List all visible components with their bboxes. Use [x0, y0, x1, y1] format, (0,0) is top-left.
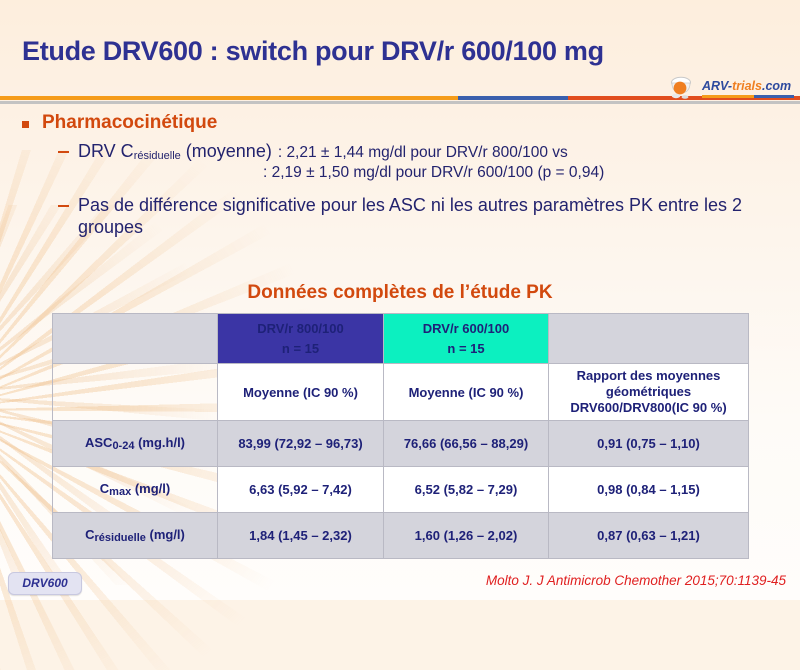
- cell-cres-drv800: 1,84 (1,45 – 2,32): [218, 513, 384, 559]
- drv-c-subscript: résiduelle: [134, 150, 181, 162]
- table-row: Crésiduelle (mg/l) 1,84 (1,45 – 2,32) 1,…: [53, 513, 749, 559]
- cres-label: C: [85, 527, 94, 542]
- bullet-drv-cresiduelle: DRV Crésiduelle (moyenne): 2,21 ± 1,44 m…: [0, 141, 800, 183]
- table-caption: Données complètes de l’étude PK: [0, 282, 800, 304]
- bullet-level1-label: Pharmacocinétique: [42, 112, 217, 133]
- ratio-line1: Rapport des moyennes: [577, 368, 721, 383]
- pill-bottle-icon: [666, 76, 700, 100]
- cell-asc-drv600: 76,66 (66,56 – 88,29): [384, 421, 549, 467]
- pk-data-table: DRV/r 800/100 n = 15 DRV/r 600/100 n = 1…: [52, 313, 749, 559]
- asc-label: ASC: [85, 435, 112, 450]
- bullet-square-icon: [22, 121, 29, 128]
- table-header-row-groups: DRV/r 800/100 n = 15 DRV/r 600/100 n = 1…: [53, 314, 749, 364]
- drv-c-paren: (moyenne): [181, 141, 272, 161]
- header-cell-moyenne-600: Moyenne (IC 90 %): [384, 364, 549, 421]
- cell-cmax-ratio: 0,98 (0,84 – 1,15): [549, 467, 749, 513]
- table-row: Cmax (mg/l) 6,63 (5,92 – 7,42) 6,52 (5,8…: [53, 467, 749, 513]
- header-cell-blank: [53, 364, 218, 421]
- header-cell-ratio: Rapport des moyennes géométriques DRV600…: [549, 364, 749, 421]
- asc-subscript: 0-24: [112, 440, 134, 452]
- drv-c-value-line1: : 2,21 ± 1,44 mg/dl pour DRV/r 800/100 v…: [278, 144, 568, 161]
- table-header-row-measures: Moyenne (IC 90 %) Moyenne (IC 90 %) Rapp…: [53, 364, 749, 421]
- page-title: Etude DRV600 : switch pour DRV/r 600/100…: [22, 36, 604, 67]
- bullet-no-significant-difference: Pas de différence significative pour les…: [0, 195, 800, 239]
- row-label-cresiduelle: Crésiduelle (mg/l): [53, 513, 218, 559]
- drv600-n: n = 15: [447, 341, 484, 356]
- cres-unit: (mg/l): [146, 527, 185, 542]
- header-cell-empty-topleft: [53, 314, 218, 364]
- study-badge: DRV600: [8, 572, 82, 595]
- ratio-line2: géométriques: [606, 384, 691, 399]
- arv-trials-logo[interactable]: ARV-trials.com: [666, 76, 794, 102]
- bullet-level2-text: Pas de différence significative pour les…: [78, 195, 776, 239]
- bullet-level2-line: DRV Crésiduelle (moyenne): 2,21 ± 1,44 m…: [78, 141, 800, 183]
- drv800-label: DRV/r 800/100: [257, 321, 344, 336]
- cell-cres-drv600: 1,60 (1,26 – 2,02): [384, 513, 549, 559]
- logo-underline-orange: [702, 95, 754, 98]
- divider-segment-blue: [458, 96, 568, 100]
- header-cell-empty-topright: [549, 314, 749, 364]
- study-badge-label: DRV600: [9, 576, 81, 590]
- row-label-asc: ASC0-24 (mg.h/l): [53, 421, 218, 467]
- header-cell-moyenne-800: Moyenne (IC 90 %): [218, 364, 384, 421]
- logo-underline-blue: [754, 95, 794, 98]
- drv-c-label: DRV C: [78, 141, 134, 161]
- cmax-label: C: [100, 481, 109, 496]
- drv600-label: DRV/r 600/100: [423, 321, 510, 336]
- citation-reference: Molto J. J Antimicrob Chemother 2015;70:…: [486, 573, 786, 588]
- drv-c-value-line2: : 2,19 ± 1,50 mg/dl pour DRV/r 600/100 (…: [78, 164, 800, 183]
- cell-cmax-drv600: 6,52 (5,82 – 7,29): [384, 467, 549, 513]
- logo-text-arv: ARV-: [702, 79, 732, 93]
- cell-cmax-drv800: 6,63 (5,92 – 7,42): [218, 467, 384, 513]
- cmax-unit: (mg/l): [131, 481, 170, 496]
- bullet-dash-icon-2: [58, 205, 69, 207]
- header-cell-drv800: DRV/r 800/100 n = 15: [218, 314, 384, 364]
- bullet-pharmacocinetique: Pharmacocinétique: [0, 112, 800, 134]
- logo-text-com: .com: [762, 79, 791, 93]
- header-cell-drv600: DRV/r 600/100 n = 15: [384, 314, 549, 364]
- ratio-line3: DRV600/DRV800(IC 90 %): [570, 400, 726, 415]
- divider-segment-orange: [0, 96, 458, 100]
- table-row: ASC0-24 (mg.h/l) 83,99 (72,92 – 96,73) 7…: [53, 421, 749, 467]
- drv800-n: n = 15: [282, 341, 319, 356]
- row-label-cmax: Cmax (mg/l): [53, 467, 218, 513]
- cell-cres-ratio: 0,87 (0,63 – 1,21): [549, 513, 749, 559]
- cell-asc-ratio: 0,91 (0,75 – 1,10): [549, 421, 749, 467]
- asc-unit: (mg.h/l): [134, 435, 185, 450]
- logo-wordmark: ARV-trials.com: [702, 79, 791, 93]
- cres-subscript: résiduelle: [95, 532, 146, 544]
- bullet-dash-icon: [58, 151, 69, 153]
- cmax-subscript: max: [109, 486, 131, 498]
- cell-asc-drv800: 83,99 (72,92 – 96,73): [218, 421, 384, 467]
- content-bullets: Pharmacocinétique DRV Crésiduelle (moyen…: [0, 112, 800, 239]
- logo-text-trials: trials: [732, 79, 762, 93]
